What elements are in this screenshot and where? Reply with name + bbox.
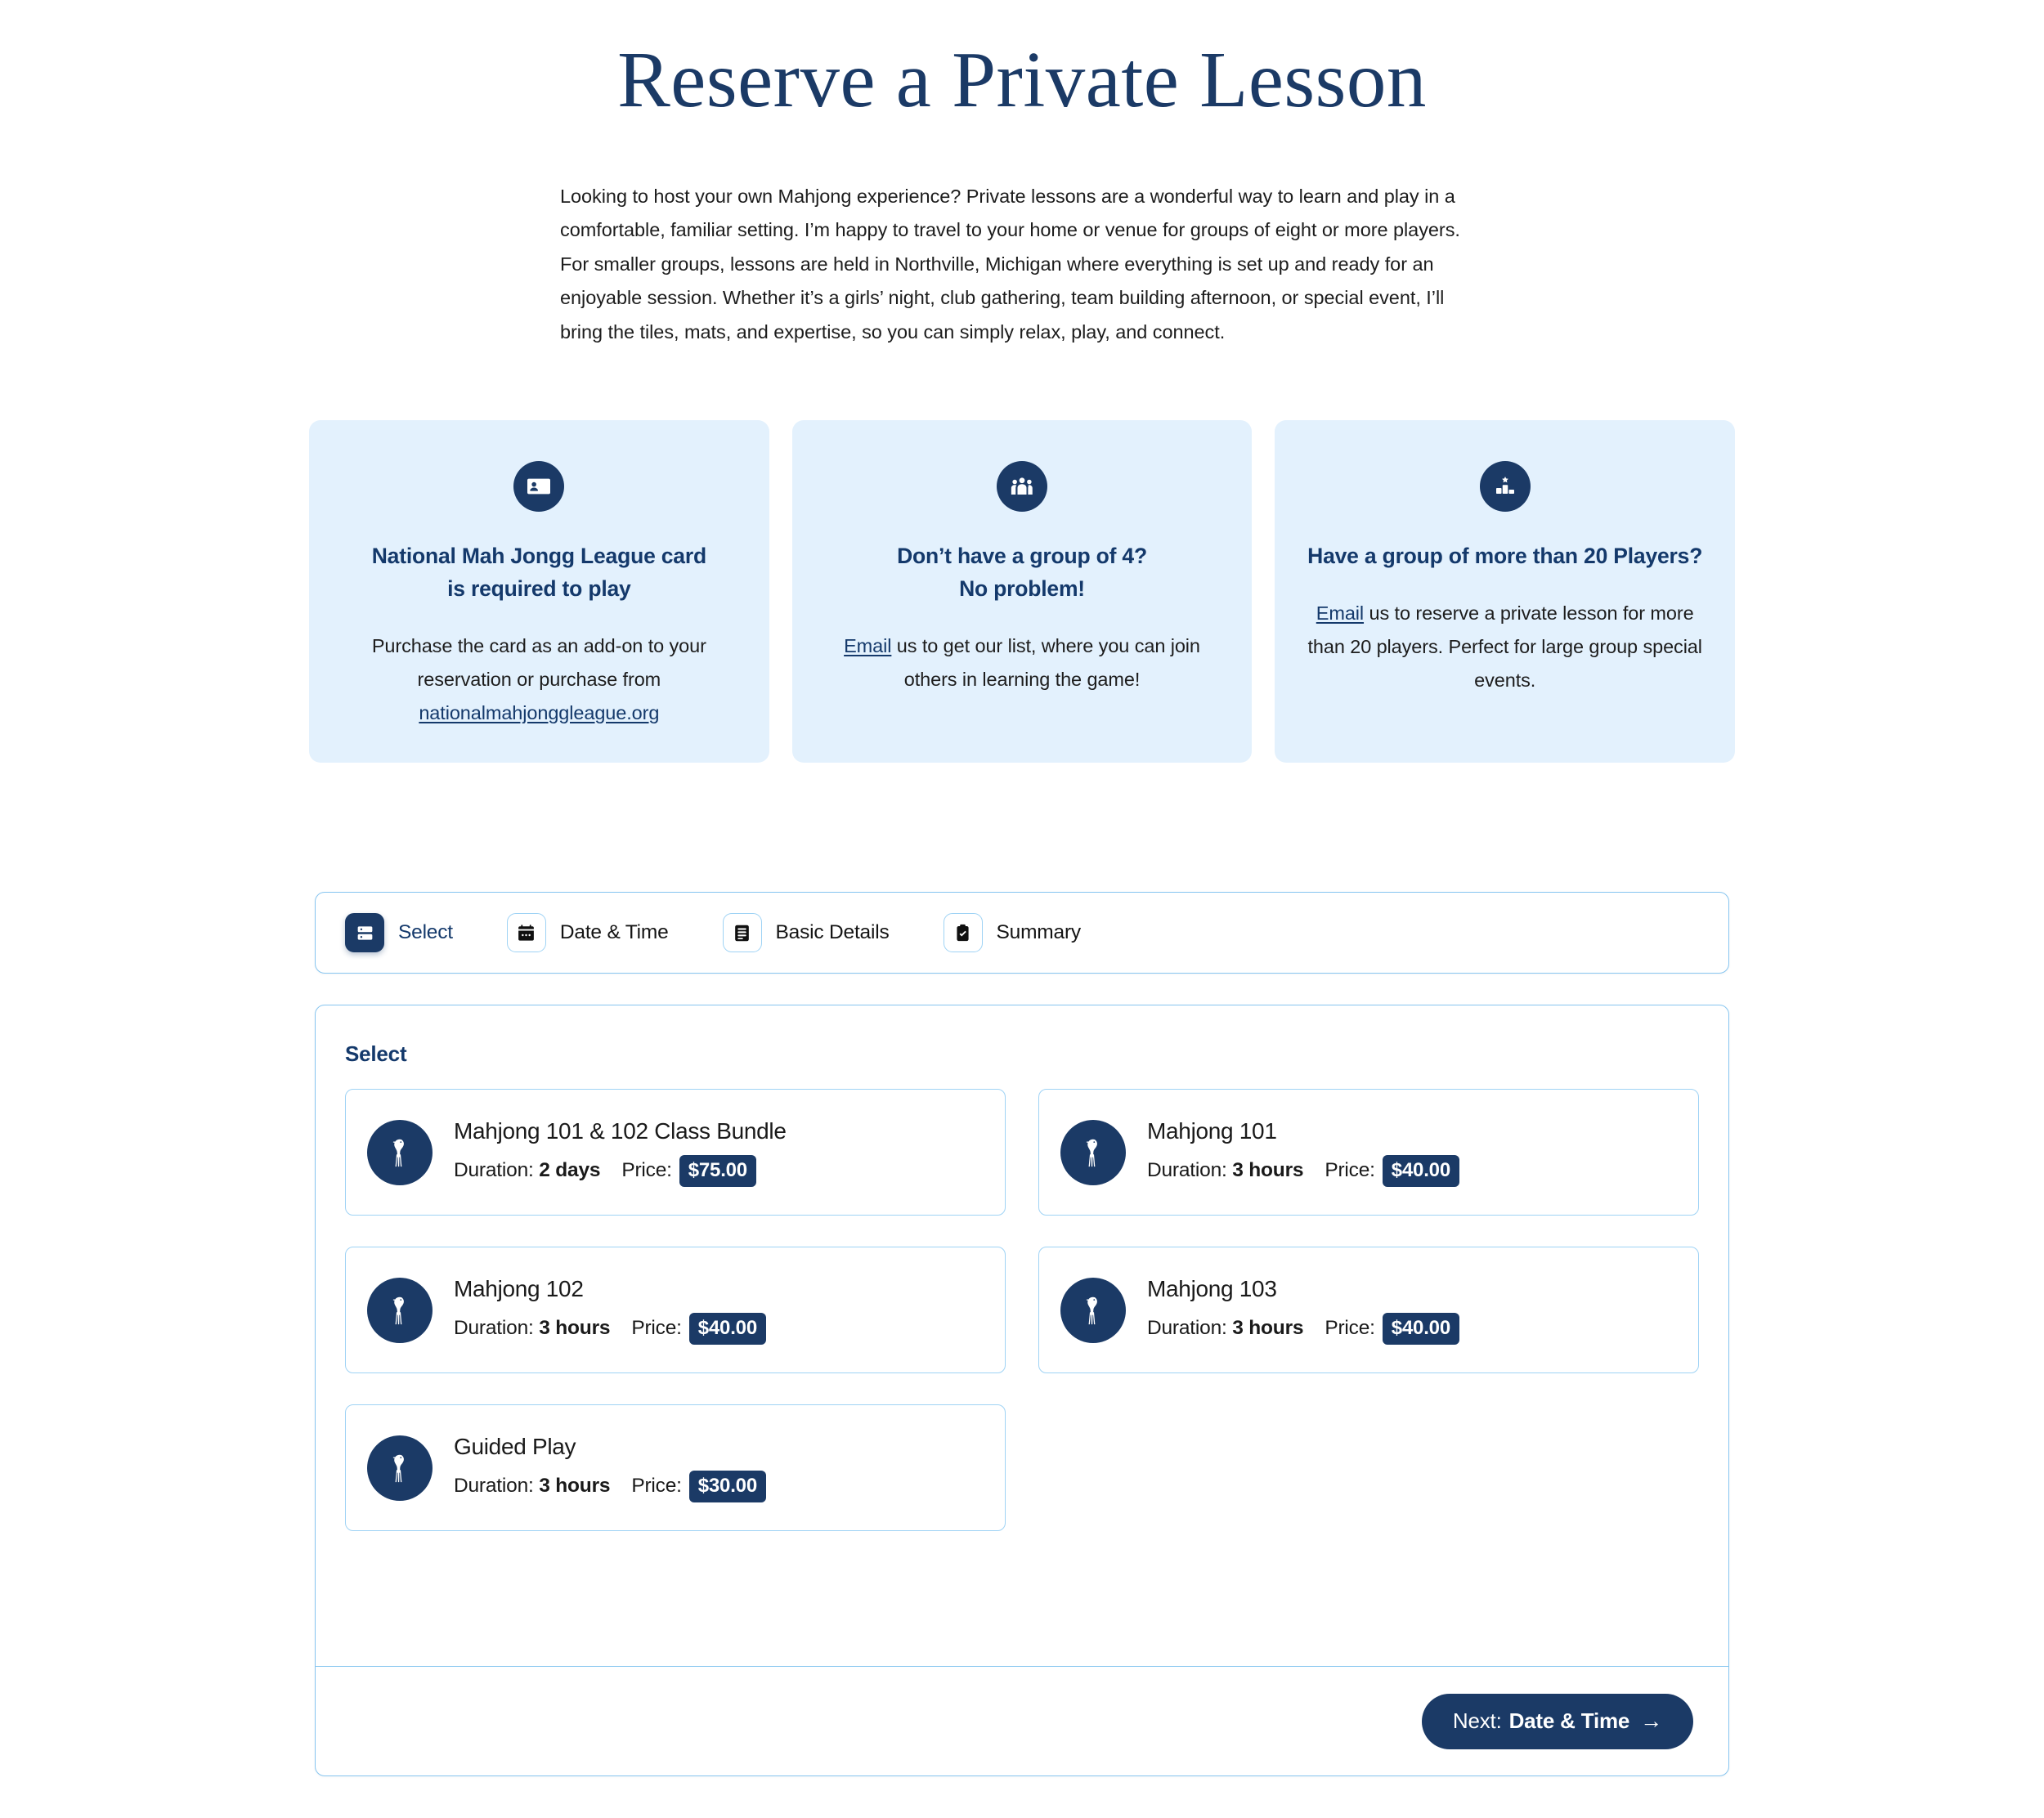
service-list: Mahjong 101 & 102 Class Bundle Duration:… bbox=[345, 1089, 1699, 1531]
duration-label: Duration: bbox=[1147, 1317, 1227, 1339]
step-basic-details[interactable]: Basic Details bbox=[723, 913, 890, 952]
info-card-body: Email us to reserve a private lesson for… bbox=[1302, 597, 1707, 697]
podium-star-icon bbox=[1480, 461, 1531, 512]
info-card-group: National Mah Jongg League card is requir… bbox=[309, 420, 1735, 763]
info-card-title-line1: National Mah Jongg League card bbox=[372, 544, 706, 568]
service-info: Mahjong 101 Duration: 3 hours Price: $40… bbox=[1147, 1118, 1459, 1187]
service-meta: Duration: 3 hours Price: $40.00 bbox=[1147, 1313, 1459, 1345]
service-name: Mahjong 101 & 102 Class Bundle bbox=[454, 1118, 787, 1144]
price-badge: $75.00 bbox=[679, 1155, 756, 1187]
document-lines-icon bbox=[723, 913, 762, 952]
duration-value: 3 hours bbox=[539, 1475, 610, 1497]
service-info: Guided Play Duration: 3 hours Price: $30… bbox=[454, 1434, 766, 1502]
service-meta: Duration: 3 hours Price: $40.00 bbox=[1147, 1155, 1459, 1187]
price-badge: $30.00 bbox=[689, 1471, 766, 1502]
bird-avatar-icon bbox=[367, 1435, 433, 1501]
info-card-title: National Mah Jongg League card is requir… bbox=[337, 540, 742, 605]
step-label-select: Select bbox=[398, 921, 453, 944]
duration-value: 3 hours bbox=[539, 1317, 610, 1339]
info-card-title-line1: Don’t have a group of 4? bbox=[897, 544, 1147, 568]
price-badge: $40.00 bbox=[1383, 1155, 1459, 1187]
bird-avatar-icon bbox=[1060, 1120, 1126, 1185]
price-badge: $40.00 bbox=[1383, 1313, 1459, 1345]
info-card-body: Purchase the card as an add-on to your r… bbox=[337, 629, 742, 730]
service-duration: Duration: 3 hours bbox=[454, 1475, 610, 1498]
service-card[interactable]: Guided Play Duration: 3 hours Price: $30… bbox=[345, 1404, 1006, 1531]
duration-label: Duration: bbox=[454, 1317, 534, 1339]
calendar-icon bbox=[507, 913, 546, 952]
duration-label: Duration: bbox=[454, 1475, 534, 1497]
step-label-summary: Summary bbox=[997, 921, 1081, 944]
step-summary[interactable]: Summary bbox=[944, 913, 1081, 952]
price-label: Price: bbox=[631, 1317, 681, 1340]
next-button-prefix: Next: bbox=[1453, 1708, 1502, 1734]
service-name: Mahjong 101 bbox=[1147, 1118, 1459, 1144]
next-button-label: Date & Time bbox=[1509, 1708, 1630, 1734]
price-label: Price: bbox=[621, 1159, 671, 1182]
duration-label: Duration: bbox=[1147, 1159, 1227, 1181]
duration-label: Duration: bbox=[454, 1159, 534, 1181]
booking-widget: Select Date & Time bbox=[315, 892, 1729, 1776]
service-card[interactable]: Mahjong 101 Duration: 3 hours Price: $40… bbox=[1038, 1089, 1699, 1216]
clipboard-check-icon bbox=[944, 913, 983, 952]
info-card-league-card: National Mah Jongg League card is requir… bbox=[309, 420, 769, 763]
service-duration: Duration: 2 days bbox=[454, 1159, 600, 1182]
service-duration: Duration: 3 hours bbox=[1147, 1317, 1303, 1340]
service-duration: Duration: 3 hours bbox=[454, 1317, 610, 1340]
select-panel-body: Select Mahjong 101 & 102 Class Bu bbox=[316, 1005, 1728, 1666]
service-meta: Duration: 3 hours Price: $40.00 bbox=[454, 1313, 766, 1345]
duration-value: 3 hours bbox=[1232, 1317, 1303, 1339]
price-label: Price: bbox=[631, 1475, 681, 1498]
private-lesson-booking-page: Reserve a Private Lesson Looking to host… bbox=[0, 0, 2044, 1818]
select-panel: Select Mahjong 101 & 102 Class Bu bbox=[315, 1005, 1729, 1776]
service-meta: Duration: 3 hours Price: $30.00 bbox=[454, 1471, 766, 1502]
price-label: Price: bbox=[1325, 1159, 1374, 1182]
info-card-title: Have a group of more than 20 Players? bbox=[1302, 540, 1707, 572]
duration-value: 2 days bbox=[539, 1159, 600, 1181]
service-name: Guided Play bbox=[454, 1434, 766, 1460]
service-meta: Duration: 2 days Price: $75.00 bbox=[454, 1155, 787, 1187]
bird-avatar-icon bbox=[367, 1278, 433, 1343]
email-link[interactable]: Email bbox=[1316, 602, 1364, 624]
service-name: Mahjong 102 bbox=[454, 1276, 766, 1302]
service-info: Mahjong 101 & 102 Class Bundle Duration:… bbox=[454, 1118, 787, 1187]
info-card-body-suffix: us to get our list, where you can join o… bbox=[891, 635, 1200, 690]
info-card-large-group: Have a group of more than 20 Players? Em… bbox=[1275, 420, 1735, 763]
price-badge: $40.00 bbox=[689, 1313, 766, 1345]
bird-avatar-icon bbox=[367, 1120, 433, 1185]
service-card[interactable]: Mahjong 103 Duration: 3 hours Price: $40… bbox=[1038, 1247, 1699, 1373]
service-card[interactable]: Mahjong 102 Duration: 3 hours Price: $40… bbox=[345, 1247, 1006, 1373]
server-list-icon bbox=[345, 913, 384, 952]
info-card-body-suffix: us to reserve a private lesson for more … bbox=[1307, 602, 1701, 691]
info-card-title-line2: is required to play bbox=[447, 576, 630, 601]
step-select[interactable]: Select bbox=[345, 913, 453, 952]
info-card-body-prefix: Purchase the card as an add-on to your r… bbox=[372, 635, 706, 690]
step-label-date-time: Date & Time bbox=[560, 921, 669, 944]
intro-paragraph: Looking to host your own Mahjong experie… bbox=[560, 180, 1484, 350]
arrow-right-icon: → bbox=[1640, 1708, 1662, 1734]
service-info: Mahjong 102 Duration: 3 hours Price: $40… bbox=[454, 1276, 766, 1345]
info-card-body: Email us to get our list, where you can … bbox=[820, 629, 1225, 696]
page-title: Reserve a Private Lesson bbox=[0, 0, 2044, 126]
service-info: Mahjong 103 Duration: 3 hours Price: $40… bbox=[1147, 1276, 1459, 1345]
booking-stepper: Select Date & Time bbox=[315, 892, 1729, 974]
email-link[interactable]: Email bbox=[844, 635, 891, 656]
info-card-title-line2: No problem! bbox=[959, 576, 1085, 601]
info-card-title: Don’t have a group of 4? No problem! bbox=[820, 540, 1225, 605]
people-group-icon bbox=[997, 461, 1047, 512]
panel-heading: Select bbox=[345, 1041, 1699, 1067]
info-card-group-of-four: Don’t have a group of 4? No problem! Ema… bbox=[792, 420, 1253, 763]
step-label-basic-details: Basic Details bbox=[776, 921, 890, 944]
next-date-time-button[interactable]: Next:Date & Time→ bbox=[1422, 1694, 1693, 1749]
service-duration: Duration: 3 hours bbox=[1147, 1159, 1303, 1182]
step-date-time[interactable]: Date & Time bbox=[507, 913, 669, 952]
price-label: Price: bbox=[1325, 1317, 1374, 1340]
service-card[interactable]: Mahjong 101 & 102 Class Bundle Duration:… bbox=[345, 1089, 1006, 1216]
info-card-title-line1: Have a group of more than 20 Players? bbox=[1307, 544, 1702, 568]
panel-footer: Next:Date & Time→ bbox=[316, 1666, 1728, 1775]
league-website-link[interactable]: nationalmahjonggleague.org bbox=[419, 702, 659, 723]
duration-value: 3 hours bbox=[1232, 1159, 1303, 1181]
service-name: Mahjong 103 bbox=[1147, 1276, 1459, 1302]
id-card-icon bbox=[513, 461, 564, 512]
bird-avatar-icon bbox=[1060, 1278, 1126, 1343]
